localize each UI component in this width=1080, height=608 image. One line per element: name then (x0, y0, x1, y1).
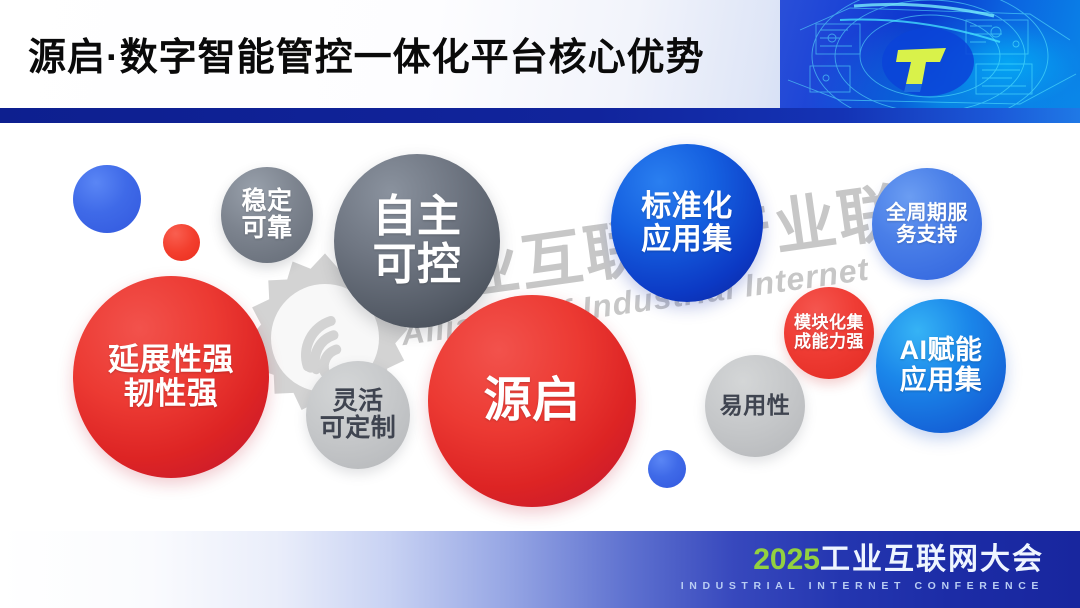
bubble-line: 源启 (483, 375, 580, 428)
slide-root: 源启·数字智能管控一体化平台核心优势 (0, 0, 1080, 608)
bubble-modular-integration[interactable]: 模块化集 成能力强 (784, 287, 874, 379)
bubble-line: 可控 (373, 241, 462, 289)
bubble-line: 全周期服 (886, 202, 968, 224)
bubble-full-lifecycle-support[interactable]: 全周期服 务支持 (872, 168, 982, 280)
bubble-line: 应用集 (641, 223, 733, 256)
bubble-standardized-app-set[interactable]: 标准化 应用集 (611, 144, 763, 302)
conference-name-cn: 工业互联网大会 (820, 543, 1044, 576)
header-accent-bar (0, 108, 1080, 123)
bubble-line: 应用集 (900, 366, 983, 396)
bubble-line: 可定制 (320, 415, 397, 443)
bubble-line: 务支持 (896, 224, 958, 246)
conference-name-en: INDUSTRIAL INTERNET CONFERENCE (681, 581, 1044, 592)
conference-year: 2025 (753, 543, 820, 576)
slide-footer: 2025工业互联网大会 INDUSTRIAL INTERNET CONFEREN… (0, 531, 1080, 608)
bubble-yuanqi-core[interactable]: 源启 (428, 295, 636, 507)
bubble-stable-reliable[interactable]: 稳定 可靠 (221, 167, 313, 263)
bubble-extensible-resilient[interactable]: 延展性强 韧性强 (73, 276, 269, 478)
decorative-dot-blue-bottom (648, 450, 686, 488)
bubble-line: 韧性强 (124, 377, 219, 411)
bubble-self-controllable[interactable]: 自主 可控 (334, 154, 500, 328)
bubble-line: 成能力强 (794, 333, 864, 352)
bubble-line: 稳定 (241, 188, 292, 216)
bubble-ease-of-use[interactable]: 易用性 (705, 355, 805, 457)
slide-header: 源启·数字智能管控一体化平台核心优势 (0, 0, 1080, 108)
page-title: 源启·数字智能管控一体化平台核心优势 (28, 26, 705, 81)
bubble-line: 可靠 (241, 215, 292, 243)
circuit-globe-icon (780, 0, 1080, 108)
bubble-line: 灵活 (332, 388, 383, 416)
conference-title-row: 2025工业互联网大会 (681, 545, 1044, 575)
bubble-line: 自主 (373, 193, 462, 241)
conference-logo: 2025工业互联网大会 INDUSTRIAL INTERNET CONFEREN… (681, 545, 1044, 592)
bubble-line: 易用性 (720, 393, 791, 418)
bubble-ai-empowered-app-set[interactable]: AI赋能 应用集 (876, 299, 1006, 433)
bubble-flexible-customizable[interactable]: 灵活 可定制 (306, 361, 410, 469)
bubble-line: AI赋能 (900, 336, 983, 366)
bubble-line: 标准化 (641, 190, 733, 223)
bubble-line: 模块化集 (794, 314, 864, 333)
header-tech-graphic (780, 0, 1080, 108)
decorative-dot-blue-top-left (73, 165, 141, 233)
decorative-dot-red-top-left (163, 224, 200, 261)
bubble-line: 延展性强 (108, 343, 234, 377)
